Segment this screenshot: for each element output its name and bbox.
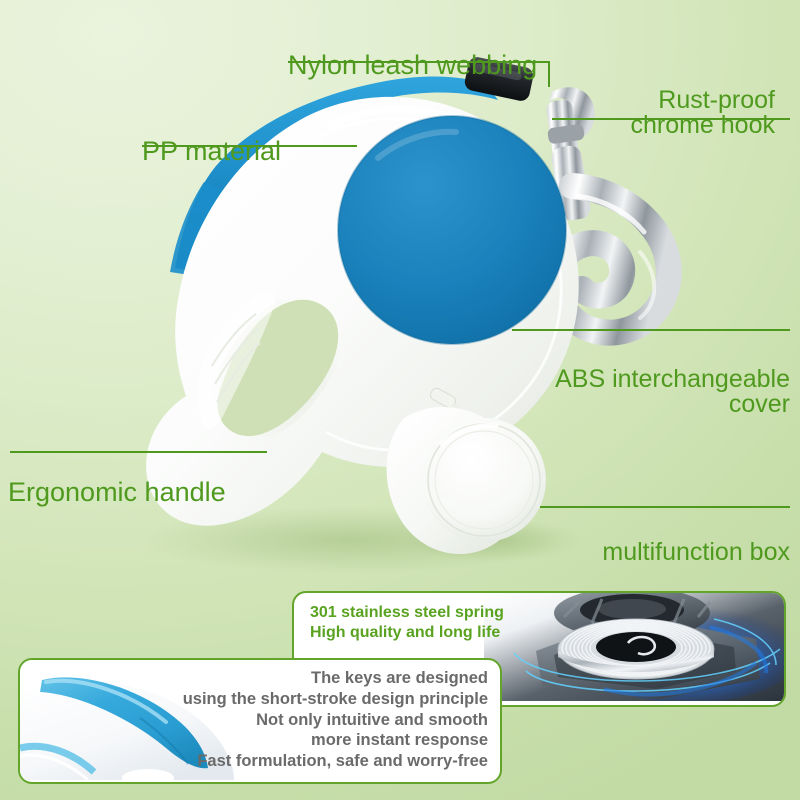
callout-rust-proof-chrome-hook: Rust-proof chrome hook [560, 62, 775, 164]
leader-line-chrome-hook [598, 118, 790, 120]
leader-line-ergonomic-handle [10, 451, 267, 453]
spring-mechanism-photo [484, 593, 784, 701]
callout-label: Ergonomic handle [8, 479, 226, 507]
callout-nylon-leash-webbing: Nylon leash webbing [288, 24, 537, 107]
callout-pp-material: PP material [142, 110, 281, 193]
callout-ergonomic-handle: Ergonomic handle [8, 451, 226, 534]
leader-line-nylon-horizontal [288, 61, 550, 63]
callout-label: PP material [142, 138, 281, 166]
leader-line-abs-cover [512, 329, 790, 331]
callout-label: Rust-proof chrome hook [560, 88, 775, 139]
spring-panel-text: 301 stainless steel spring High quality … [310, 603, 504, 644]
keys-panel-text: The keys are designed using the short-st… [183, 668, 488, 772]
keys-feature-panel: The keys are designed using the short-st… [18, 658, 502, 784]
leader-line-multifunction-box [540, 506, 790, 508]
interchangeable-cover [338, 116, 566, 344]
callout-multifunction-box: multifunction box [470, 514, 790, 591]
leader-line-pp-material [142, 145, 357, 147]
callout-abs-interchangeable-cover: ABS interchangeable cover [470, 341, 790, 443]
callout-label: ABS interchangeable cover [470, 367, 790, 418]
leader-line-nylon-vertical [548, 61, 550, 87]
callout-label: multifunction box [470, 540, 790, 566]
callout-label: Nylon leash webbing [288, 52, 537, 80]
leader-line-chrome-hook-stub [552, 118, 600, 120]
infographic-canvas: Nylon leash webbing PP material Rust-pro… [0, 0, 800, 800]
